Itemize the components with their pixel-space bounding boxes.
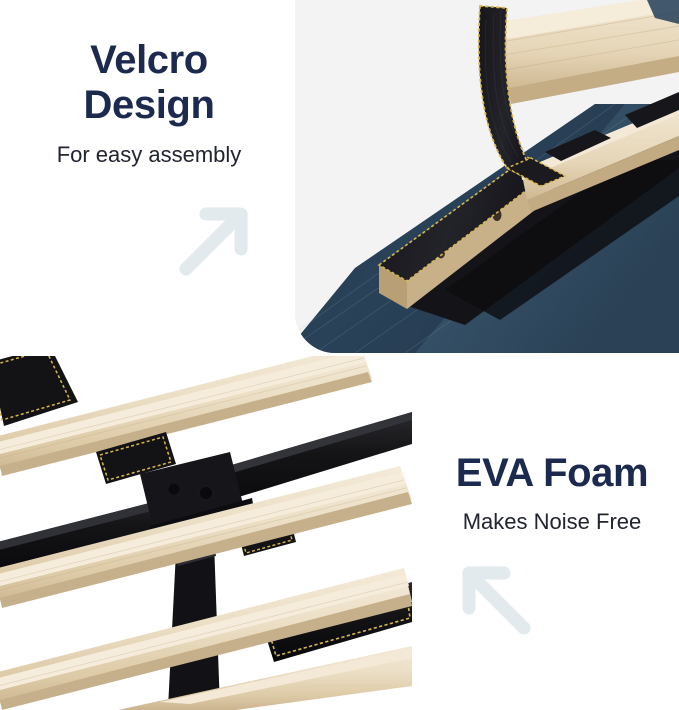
arrow-up-right-icon [176,199,256,279]
velcro-subheadline: For easy assembly [57,142,242,168]
velcro-headline-line2: Design [84,83,215,128]
velcro-photo-image [295,0,679,353]
eva-text-block: EVA Foam Makes Noise Free [430,451,674,535]
panel-velcro-photo [295,0,679,353]
velcro-headline-line1: Velcro [90,38,208,83]
panel-eva-frame-photo [0,356,412,710]
panel-eva-foam: EVA Foam Makes Noise Free [412,356,679,710]
eva-headline-line1: EVA Foam [456,451,648,496]
velcro-text-block: Velcro Design For easy assembly [10,38,288,168]
eva-subheadline: Makes Noise Free [463,509,642,535]
product-feature-infographic: Velcro Design For easy assembly [0,0,679,710]
eva-frame-photo-image [0,356,412,710]
panel-velcro-design: Velcro Design For easy assembly [0,0,297,353]
arrow-up-left-icon [458,562,534,638]
